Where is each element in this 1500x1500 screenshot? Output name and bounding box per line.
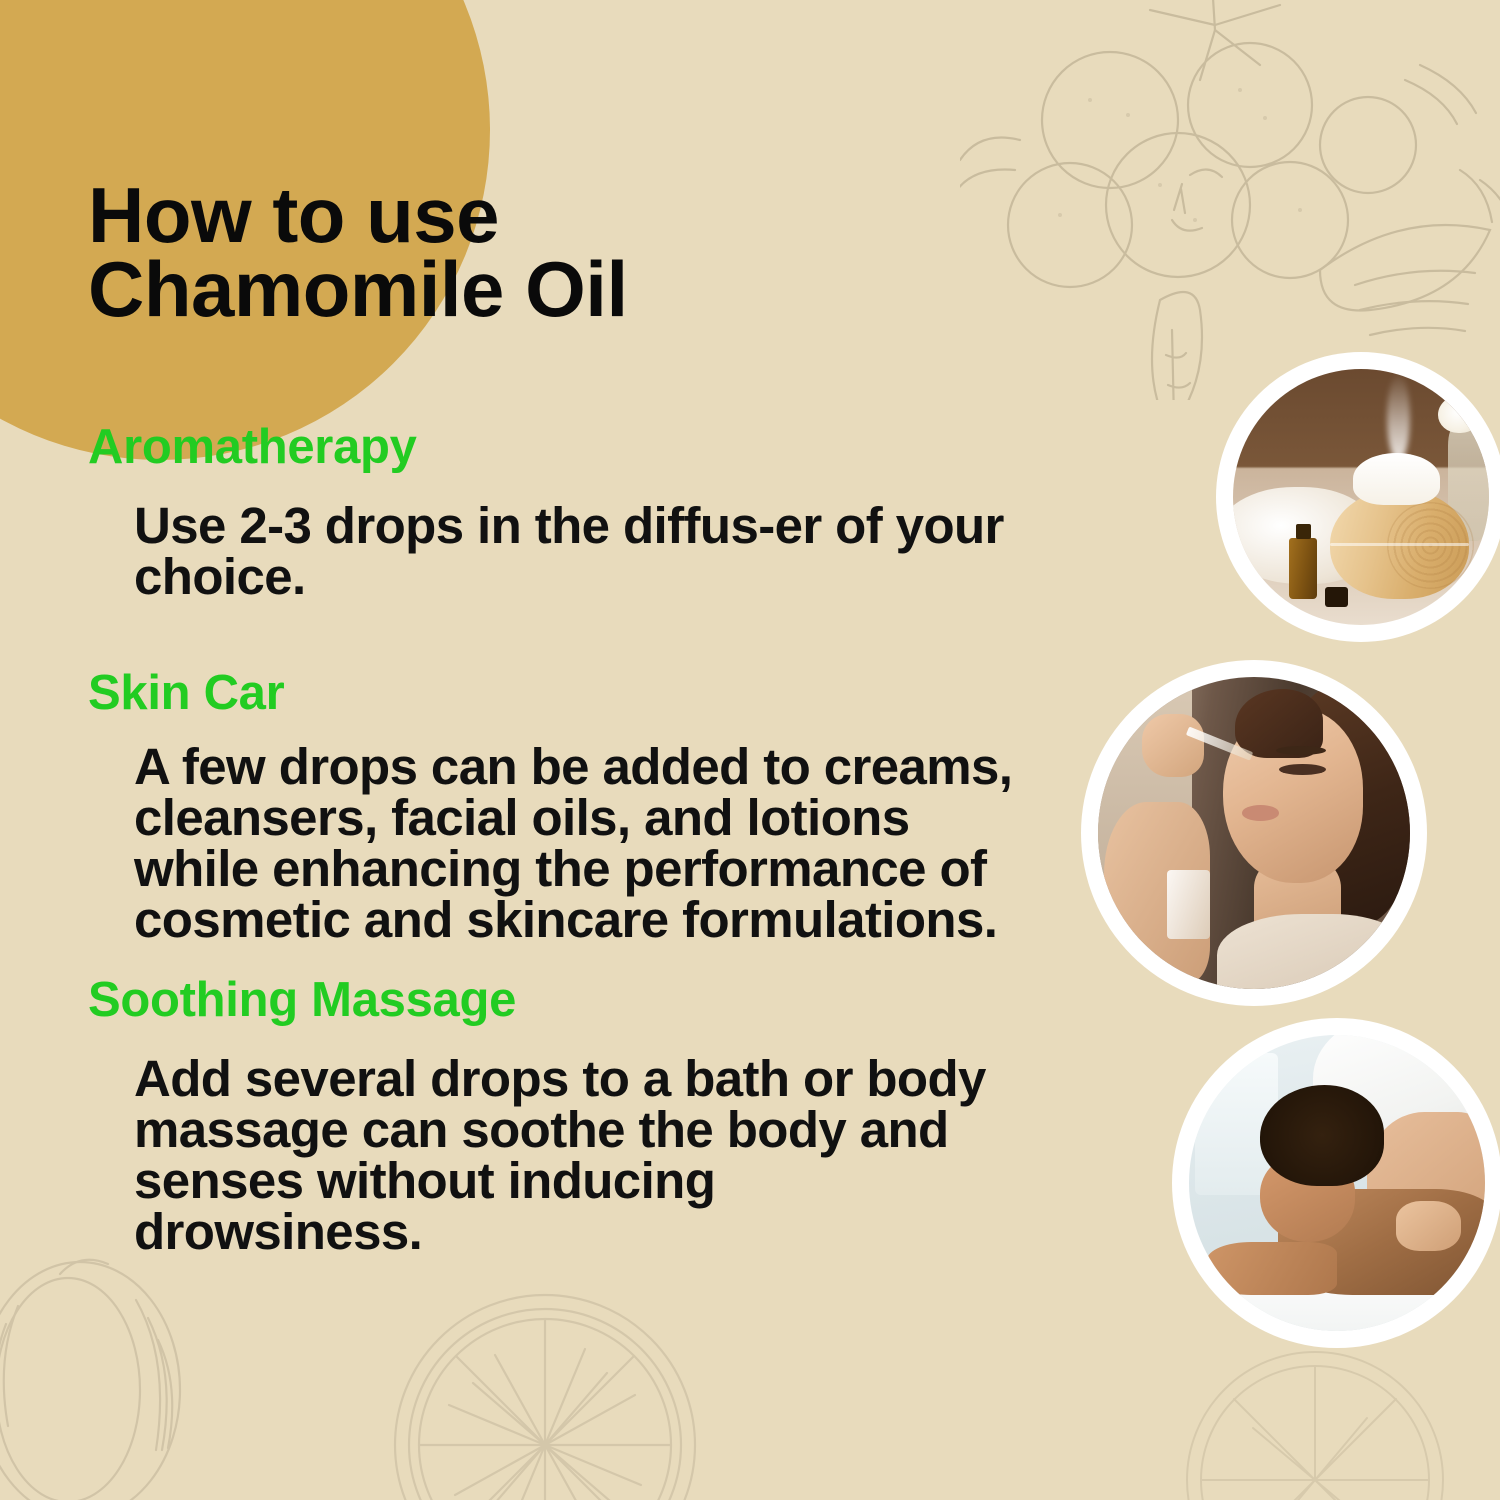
citrus-slice-watermark-right-icon [1150,1330,1480,1500]
white-flower [1438,395,1482,433]
woman-hand-holding-dropper [1142,714,1204,776]
photo-massage-image [1189,1035,1485,1331]
section-heading-soothing-massage: Soothing Massage [88,975,1040,1026]
section-body-soothing-massage: Add several drops to a bath or body mass… [88,1027,1014,1257]
section-skin-care: Skin Car A few drops can be added to cre… [88,602,1040,945]
fruit-engraving-watermark-icon [0,1240,360,1500]
section-body-skin-care: A few drops can be added to creams, clea… [88,719,1014,945]
section-heading-skin-care: Skin Car [88,668,1040,719]
client-arm [1207,1242,1337,1295]
photo-skincare-image [1098,677,1410,989]
page-title: How to use Chamomile Oil [88,0,848,326]
botanical-berries-watermark-icon [960,0,1500,400]
oil-bottle-lid [1325,587,1348,607]
photo-diffuser-image [1233,369,1489,625]
photo-circle-skincare [1081,660,1427,1006]
diffuser-mist-plume [1387,374,1410,461]
amber-oil-bottle [1289,538,1317,599]
infographic-poster: How to use Chamomile Oil Aromatherapy Us… [0,0,1500,1500]
section-body-aromatherapy: Use 2-3 drops in the diffus-er of your c… [88,474,1014,602]
woman-eyebrow [1276,746,1326,755]
woman-shoulder-top [1217,914,1410,989]
section-heading-aromatherapy: Aromatherapy [88,422,1040,473]
client-curly-hair [1260,1085,1384,1186]
diffuser-seam [1330,543,1468,546]
photo-circle-massage [1172,1018,1500,1348]
photo-circle-diffuser [1216,352,1500,642]
serum-vial [1167,870,1211,939]
diffuser-white-cap [1353,453,1440,504]
woman-lips [1242,805,1279,821]
citrus-slice-watermark-icon [330,1280,760,1500]
section-soothing-massage: Soothing Massage Add several drops to a … [88,945,1040,1256]
page-title-line-2: Chamomile Oil [88,252,848,326]
text-content-column: How to use Chamomile Oil Aromatherapy Us… [0,0,1040,1257]
therapist-hands [1396,1201,1461,1251]
section-aromatherapy: Aromatherapy Use 2-3 drops in the diffus… [88,326,1040,601]
